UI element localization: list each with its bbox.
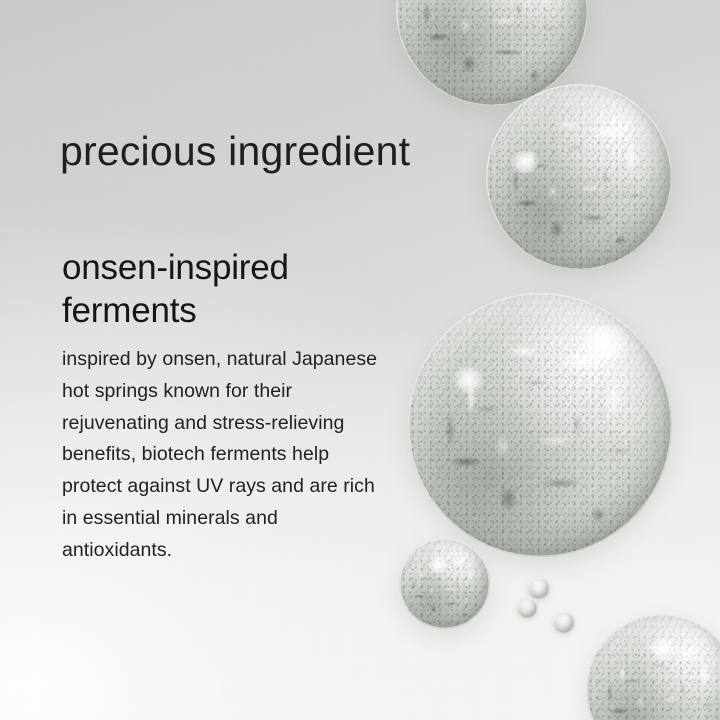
specular-highlight-secondary [572, 325, 635, 362]
body-paragraph: inspired by onsen, natural Japanese hot … [62, 344, 380, 566]
droplet-rim [527, 577, 550, 600]
glass-sphere-bottom-right [586, 614, 720, 720]
glass-droplet-1 [527, 577, 550, 600]
sphere-rim [399, 538, 490, 629]
eyebrow-label: precious ingredient [60, 129, 410, 174]
specular-highlight [426, 558, 450, 573]
sphere-rim [408, 293, 672, 557]
glass-droplet-2 [516, 597, 538, 619]
page-title: onsen-inspired ferments [62, 247, 392, 332]
glass-sphere-main [408, 293, 672, 557]
poster-canvas: precious ingredient onsen-inspired ferme… [0, 0, 720, 720]
specular-highlight [647, 638, 680, 659]
droplet-rim [552, 611, 575, 634]
sphere-rim [586, 614, 720, 720]
droplet-rim [516, 597, 538, 619]
glass-sphere-upper-right [486, 84, 672, 270]
sphere-rim [486, 84, 672, 270]
specular-highlight [508, 151, 541, 173]
glass-sphere-small-left [399, 538, 490, 629]
glass-droplet-3 [552, 611, 575, 634]
